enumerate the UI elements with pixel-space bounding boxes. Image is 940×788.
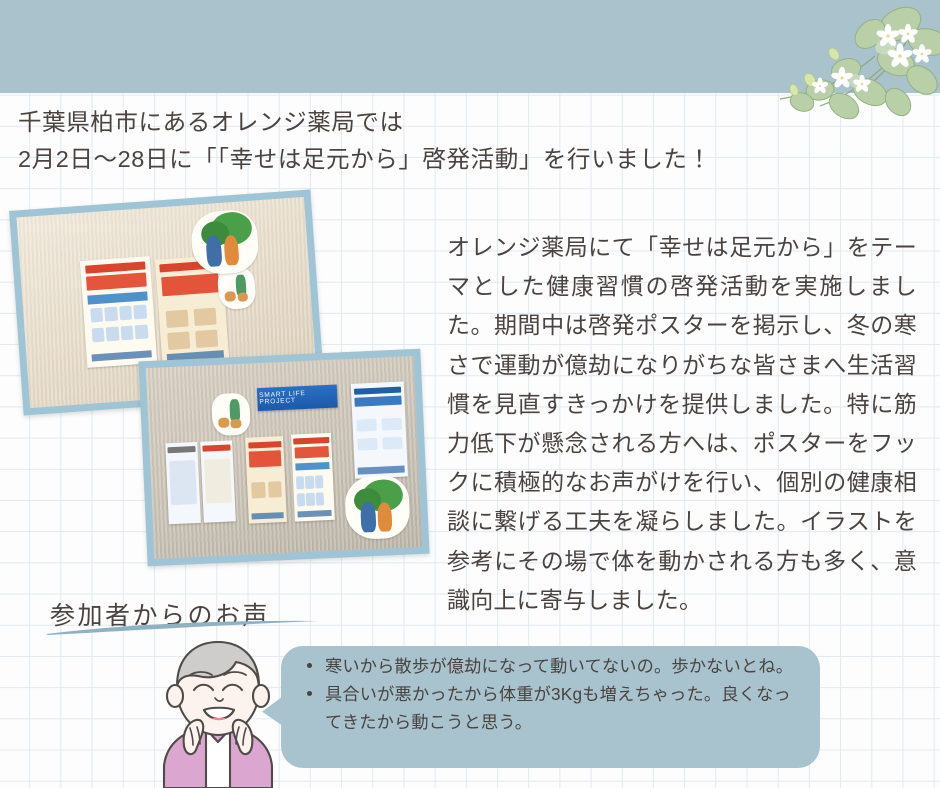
cutout-family-tree-icon-2 [344, 475, 411, 541]
poster-left-a [165, 442, 201, 524]
page-title: 千葉県柏市にあるオレンジ薬局では 2月2日〜28日に「「幸せは足元から」啓発活動… [18, 104, 918, 178]
poster-shiawase-ashimoto-2 [246, 437, 287, 525]
page-title-line-2: 2月2日〜28日に「「幸せは足元から」啓発活動」を行いました！ [18, 141, 918, 178]
participant-voices-list: 寒いから散歩が億劫になって動いてないの。歩かないとね。 具合いが悪かったから体重… [303, 652, 803, 736]
top-banner [0, 0, 940, 93]
poster-health-activity [80, 256, 157, 368]
smart-life-project-label: SMART LIFE PROJECT [259, 389, 336, 406]
page-root: 千葉県柏市にあるオレンジ薬局では 2月2日〜28日に「「幸せは足元から」啓発活動… [0, 0, 940, 788]
poster-health-activity-2 [291, 432, 335, 522]
smart-life-project-banner: SMART LIFE PROJECT [257, 384, 338, 411]
bulletin-board-photo: SMART LIFE PROJECT [138, 349, 429, 567]
poster-left-b [200, 441, 236, 523]
cutout-dog-walk-icon-2 [211, 392, 250, 436]
list-item: 具合いが悪かったから体重が3Kgも増えちゃった。良くなってきたから動こうと思う。 [303, 680, 803, 736]
voices-section-title: 参加者からのお声 [50, 596, 270, 632]
list-item: 寒いから散歩が億劫になって動いてないの。歩かないとね。 [303, 652, 803, 680]
cutout-family-tree-icon [189, 208, 260, 276]
photo-collage: SMART LIFE PROJECT [0, 190, 440, 590]
page-title-line-1: 千葉県柏市にあるオレンジ薬局では [18, 104, 918, 141]
body-paragraph: オレンジ薬局にて「幸せは足元から」をテーマとした健康習慣の啓発活動を実施しました… [447, 228, 917, 620]
poster-lifestyle-risk-check [350, 381, 408, 479]
bulletin-board-surface: SMART LIFE PROJECT [146, 356, 422, 559]
